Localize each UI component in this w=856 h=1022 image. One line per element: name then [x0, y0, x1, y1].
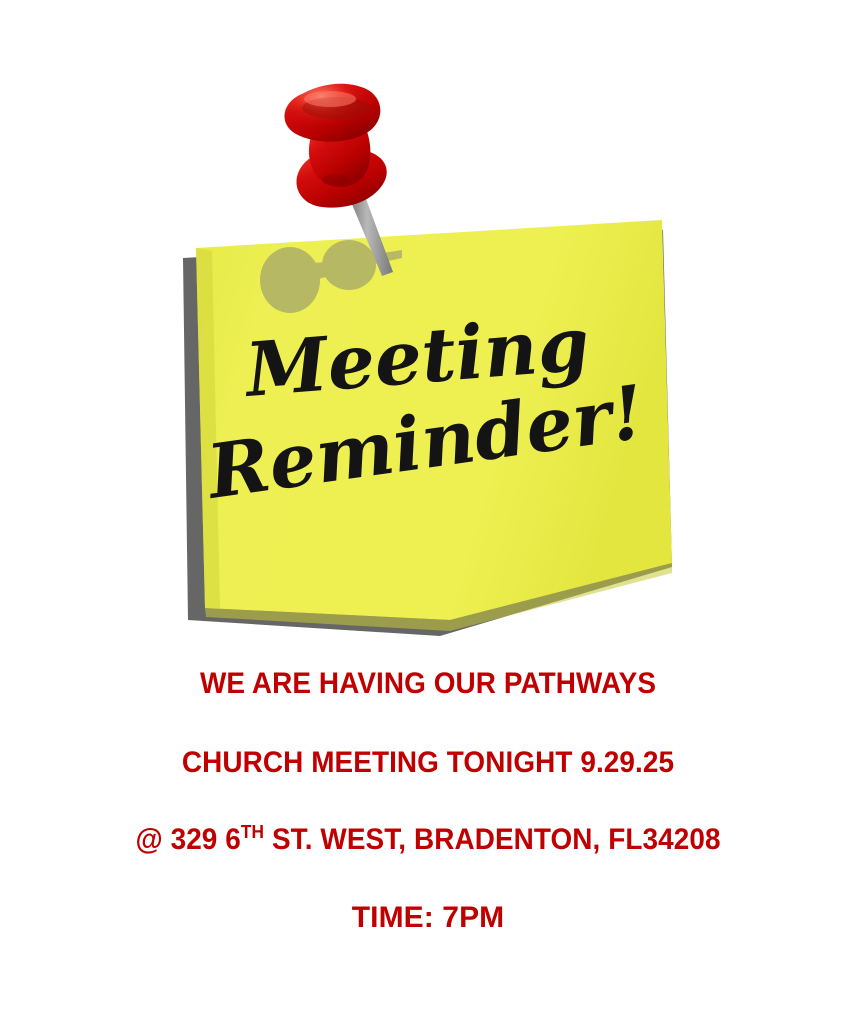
meeting-reminder-note-image: Meeting Reminder!	[150, 80, 710, 660]
announcement-line-4-time: TIME: 7PM	[0, 903, 856, 933]
sticky-note-svg: Meeting Reminder!	[150, 80, 710, 660]
announcement-line-3-prefix: @ 329 6	[135, 823, 240, 856]
announcement-line-3-suffix: ST. WEST, BRADENTON, FL34208	[264, 823, 720, 856]
pushpin	[285, 84, 387, 208]
announcement-line-1: WE ARE HAVING OUR PATHWAYS	[30, 669, 826, 699]
announcement-line-3: @ 329 6TH ST. WEST, BRADENTON, FL34208	[30, 825, 826, 855]
announcement-line-2: CHURCH MEETING TONIGHT 9.29.25	[30, 748, 826, 778]
announcement-text-block: WE ARE HAVING OUR PATHWAYS CHURCH MEETIN…	[0, 655, 856, 933]
flyer-page: Meeting Reminder! WE ARE HAVING OUR PATH…	[0, 0, 856, 1022]
announcement-line-3-ordinal-superscript: TH	[241, 821, 264, 842]
